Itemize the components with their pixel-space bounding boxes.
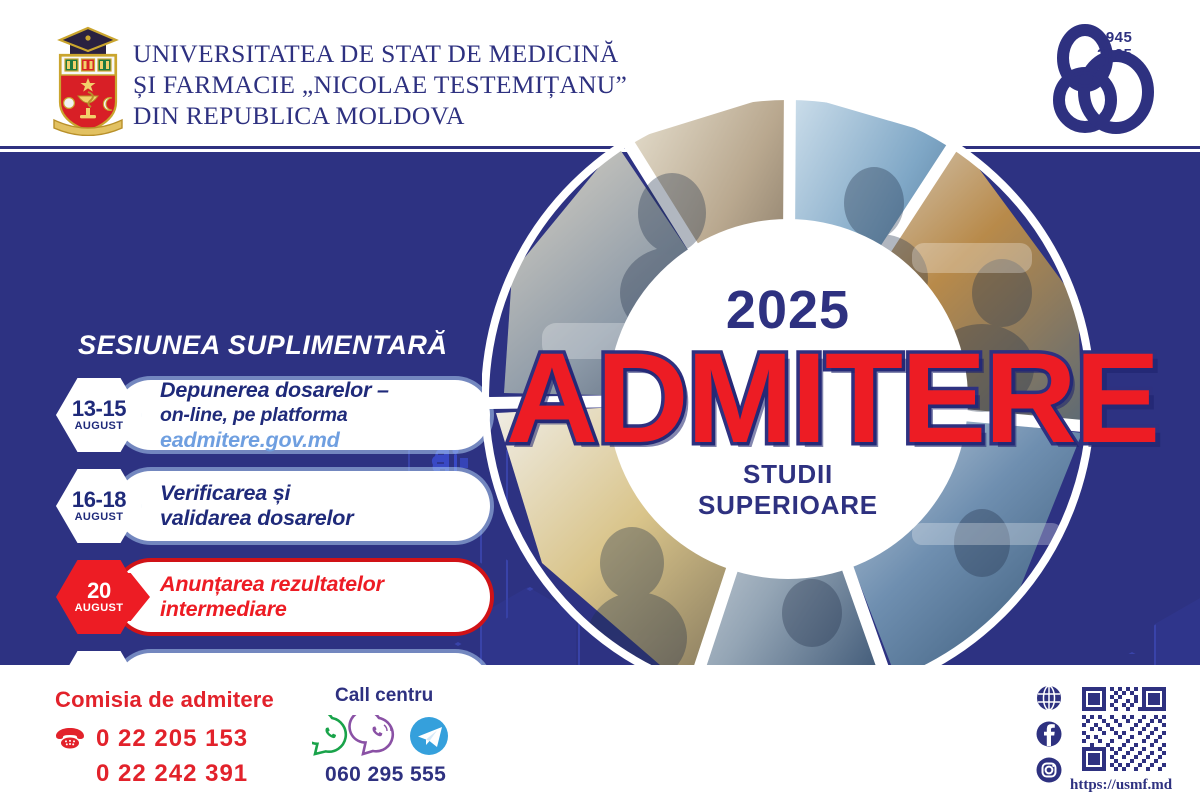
timeline-row[interactable]: 16-18 AUGUST Verificarea și validarea do… bbox=[56, 463, 496, 549]
commission-phone-numbers: 0 22 205 153 0 22 242 391 bbox=[96, 721, 248, 791]
telephone-icon bbox=[55, 727, 85, 749]
call-center-label: Call centru bbox=[335, 685, 433, 707]
instagram-icon[interactable] bbox=[1036, 757, 1070, 788]
timeline-line-1: Depunerea dosarelor – bbox=[160, 378, 482, 403]
phone-number-2[interactable]: 0 22 242 391 bbox=[96, 756, 248, 791]
viber-icon bbox=[350, 715, 393, 754]
timeline-line-2: intermediare bbox=[160, 597, 482, 622]
commission-label: Comisia de admitere bbox=[55, 687, 274, 713]
timeline-row[interactable]: 21-23 AUGUST Depunerea dosarelor în orig… bbox=[56, 645, 496, 665]
timeline-day: 16-18 bbox=[72, 489, 126, 511]
timeline-line-1: Anunțarea rezultatelor bbox=[160, 572, 482, 597]
timeline-line-2: validarea dosarelor bbox=[160, 506, 482, 531]
timeline-text: Depunerea dosarelor în original bbox=[160, 645, 482, 665]
timeline-row-highlighted[interactable]: 20 AUGUST Anunțarea rezultatelor interme… bbox=[56, 554, 496, 640]
timeline-month: AUGUST bbox=[75, 420, 124, 433]
admitere-headline: ADMITERE bbox=[482, 335, 1182, 463]
facebook-icon[interactable] bbox=[1036, 721, 1070, 752]
usmf-coat-of-arms-icon bbox=[50, 24, 126, 136]
phone-number-1[interactable]: 0 22 205 153 bbox=[96, 721, 248, 756]
timeline-text: Verificarea și validarea dosarelor bbox=[160, 463, 482, 549]
anniversary-year-to: 2025 bbox=[1097, 47, 1132, 64]
timeline-line-3[interactable]: eadmitere.gov.md bbox=[160, 428, 482, 453]
university-title-line-1: UNIVERSITATEA DE STAT DE MEDICINĂ bbox=[133, 38, 773, 69]
website-url[interactable]: https://usmf.md bbox=[1070, 777, 1172, 794]
timeline-text: Anunțarea rezultatelor intermediare bbox=[160, 554, 482, 640]
globe-icon[interactable] bbox=[1036, 685, 1070, 716]
timeline-row[interactable]: 13-15 AUGUST Depunerea dosarelor – on-li… bbox=[56, 372, 496, 458]
timeline-line-1: Verificarea și bbox=[160, 481, 482, 506]
anniversary-years: 1945 2025 bbox=[1097, 30, 1132, 63]
admission-timeline: 13-15 AUGUST Depunerea dosarelor – on-li… bbox=[56, 372, 496, 665]
telegram-icon bbox=[410, 717, 448, 755]
timeline-day: 13-15 bbox=[72, 398, 126, 420]
admission-poster: UNIVERSITATEA DE STAT DE MEDICINĂ ȘI FAR… bbox=[0, 0, 1200, 800]
poster-footer: Comisia de admitere 0 22 205 153 0 22 24… bbox=[0, 665, 1200, 800]
social-icons-column bbox=[1036, 685, 1070, 793]
timeline-line-2: on-line, pe platforma bbox=[160, 403, 482, 428]
session-title: SESIUNEA SUPLIMENTARĂ bbox=[78, 330, 498, 361]
anniversary-year-from: 1945 bbox=[1097, 30, 1132, 47]
qr-and-socials: https://usmf.md bbox=[1036, 683, 1186, 795]
timeline-text: Depunerea dosarelor – on-line, pe platfo… bbox=[160, 372, 482, 458]
call-center-icons bbox=[312, 715, 452, 757]
call-center-number[interactable]: 060 295 555 bbox=[325, 763, 446, 787]
qr-code-icon[interactable] bbox=[1078, 683, 1170, 775]
timeline-day: 20 bbox=[87, 580, 111, 602]
timeline-month: AUGUST bbox=[75, 511, 124, 524]
collage-subtitle-line-2: SUPERIOARE bbox=[608, 490, 968, 521]
timeline-month: AUGUST bbox=[75, 602, 124, 615]
whatsapp-icon bbox=[312, 715, 346, 754]
